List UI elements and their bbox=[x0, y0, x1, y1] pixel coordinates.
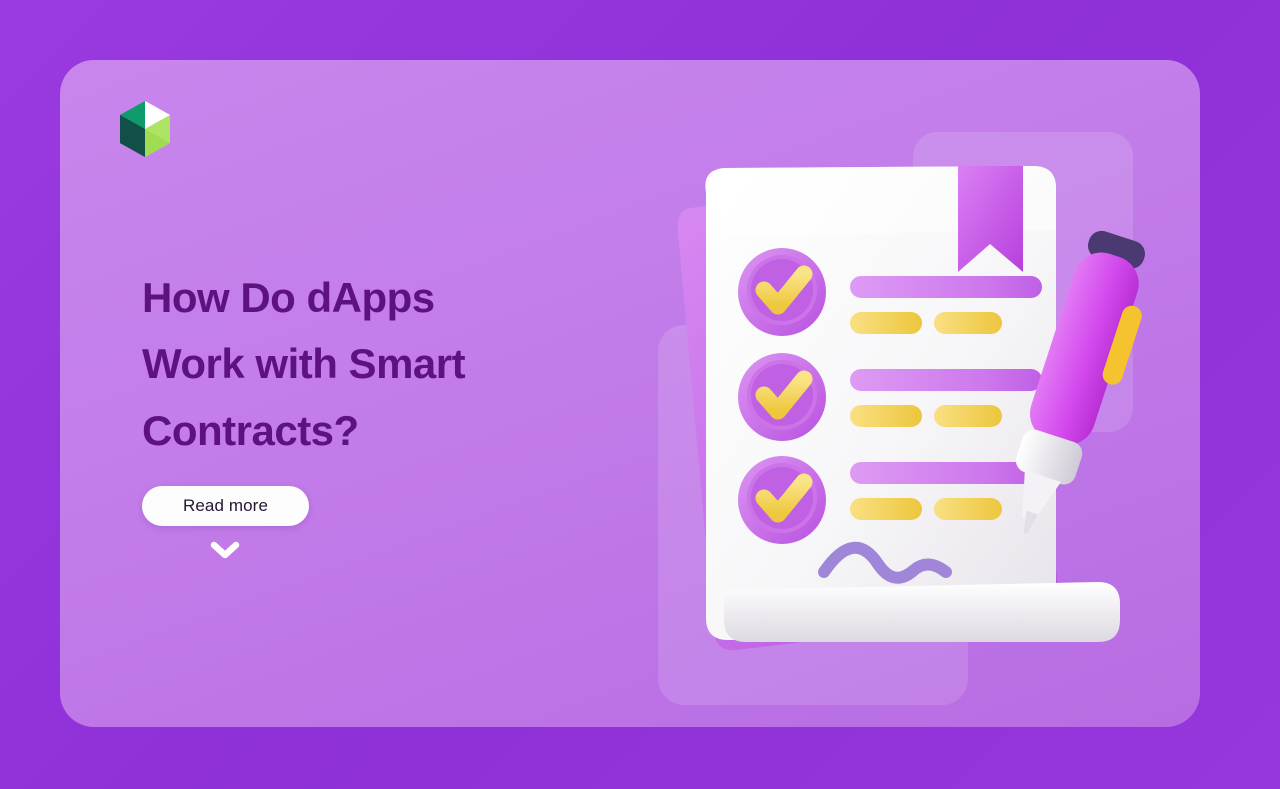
bar-purple bbox=[850, 276, 1042, 298]
paper-roll-bottom bbox=[724, 582, 1120, 642]
bar-yellow bbox=[850, 405, 922, 427]
hero-copy: How Do dApps Work with Smart Contracts? … bbox=[142, 265, 612, 562]
read-more-button[interactable]: Read more bbox=[142, 486, 309, 526]
bar-yellow bbox=[934, 312, 1002, 334]
smart-contract-document-illustration bbox=[628, 120, 1148, 727]
page-title: How Do dApps Work with Smart Contracts? bbox=[142, 265, 612, 464]
bar-yellow bbox=[934, 498, 1002, 520]
chevron-down-icon[interactable] bbox=[204, 538, 246, 562]
hero-card: How Do dApps Work with Smart Contracts? … bbox=[60, 60, 1200, 727]
cube-logo-icon[interactable] bbox=[114, 98, 176, 160]
bar-yellow bbox=[850, 498, 922, 520]
bar-yellow bbox=[850, 312, 922, 334]
bar-purple bbox=[850, 369, 1042, 391]
cta-row: Read more bbox=[142, 486, 612, 562]
bar-yellow bbox=[934, 405, 1002, 427]
bar-purple bbox=[850, 462, 1042, 484]
